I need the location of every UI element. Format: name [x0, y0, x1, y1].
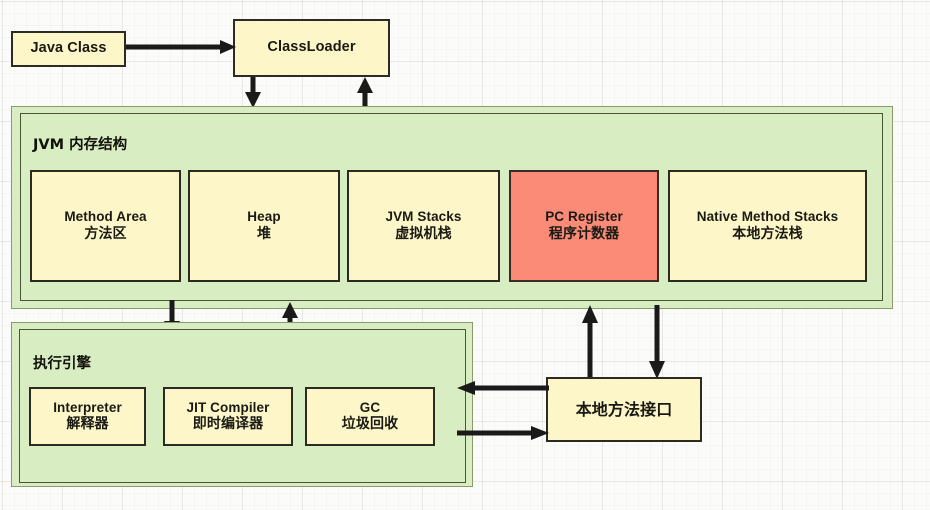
node-native-method-stacks-label-en: Native Method Stacks [697, 209, 839, 225]
node-method-area-label-cn: 方法区 [84, 226, 126, 243]
diagram-canvas: Java Class ClassLoader JVM 内存结构 Method A… [0, 0, 930, 510]
node-heap-label-en: Heap [247, 209, 280, 225]
node-jvm-stacks-label-cn: 虚拟机栈 [395, 226, 451, 243]
connector-java-class-to-class-loader [126, 40, 238, 54]
node-gc-label-cn: 垃圾回收 [342, 416, 398, 433]
node-native-method-stacks-label-cn: 本地方法栈 [732, 226, 803, 243]
node-gc-label-en: GC [360, 400, 380, 416]
node-native-method-interface-label: 本地方法接口 [576, 400, 673, 420]
node-java-class-label: Java Class [31, 40, 107, 58]
connector-class-loader-to-memory [245, 77, 261, 109]
connector-memory-to-native-interface [649, 305, 665, 379]
node-interpreter-label-en: Interpreter [53, 400, 122, 416]
node-interpreter[interactable]: Interpreter 解释器 [29, 387, 146, 446]
node-native-method-interface[interactable]: 本地方法接口 [546, 377, 702, 442]
node-heap[interactable]: Heap 堆 [188, 170, 340, 282]
node-method-area[interactable]: Method Area 方法区 [30, 170, 181, 282]
node-gc[interactable]: GC 垃圾回收 [305, 387, 435, 446]
node-jit-compiler[interactable]: JIT Compiler 即时编译器 [163, 387, 293, 446]
memory-group-title: JVM 内存结构 [33, 133, 127, 154]
connector-memory-to-class-loader [357, 77, 373, 109]
node-pc-register[interactable]: PC Register 程序计数器 [509, 170, 659, 282]
execution-group-title: 执行引擎 [33, 352, 91, 373]
node-interpreter-label-cn: 解释器 [66, 416, 108, 433]
node-method-area-label-en: Method Area [64, 209, 146, 225]
node-java-class[interactable]: Java Class [11, 31, 126, 67]
node-jit-compiler-label-en: JIT Compiler [187, 400, 270, 416]
node-jvm-stacks-label-en: JVM Stacks [385, 209, 461, 225]
node-heap-label-cn: 堆 [257, 226, 271, 243]
node-jvm-stacks[interactable]: JVM Stacks 虚拟机栈 [347, 170, 500, 282]
connector-native-interface-to-execution-engine [457, 381, 549, 395]
node-pc-register-label-cn: 程序计数器 [549, 226, 620, 243]
node-jit-compiler-label-cn: 即时编译器 [193, 416, 264, 433]
connector-execution-engine-to-native-interface [457, 426, 549, 440]
node-native-method-stacks[interactable]: Native Method Stacks 本地方法栈 [668, 170, 867, 282]
connector-native-interface-to-memory [582, 305, 598, 379]
node-class-loader[interactable]: ClassLoader [233, 19, 390, 77]
node-pc-register-label-en: PC Register [545, 209, 623, 225]
node-class-loader-label: ClassLoader [267, 39, 355, 57]
